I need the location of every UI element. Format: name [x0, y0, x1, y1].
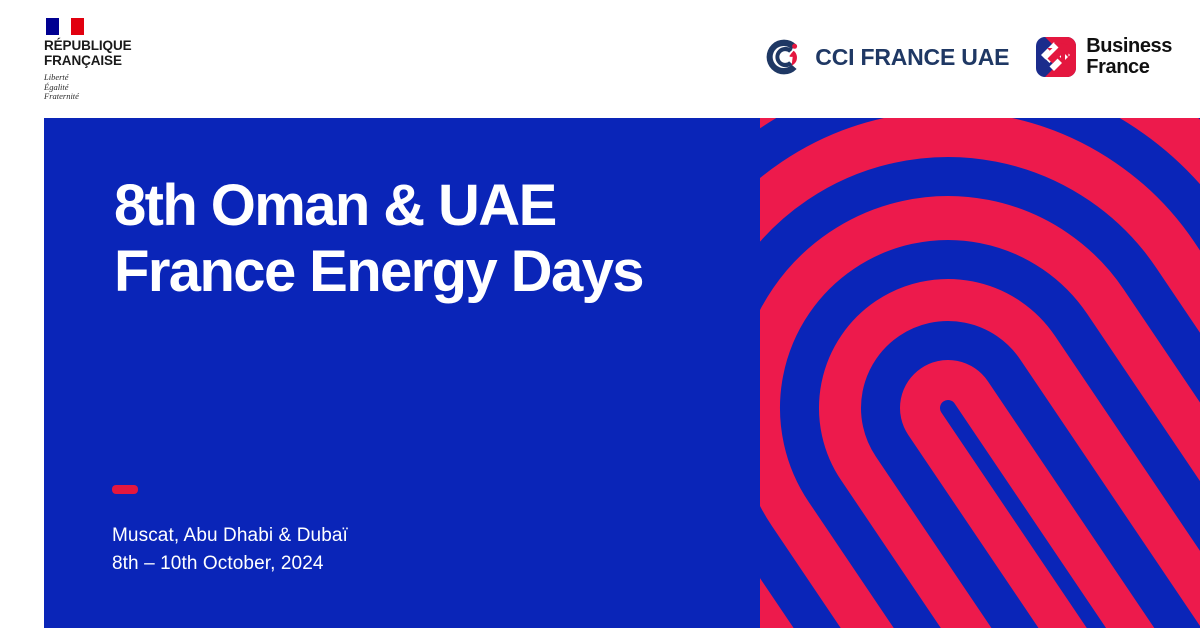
event-dates: 8th – 10th October, 2024: [112, 550, 348, 578]
cci-france-uae-logo[interactable]: CCI FRANCE UAE: [763, 36, 1009, 78]
republique-francaise-logo: RÉPUBLIQUE FRANÇAISE Liberté Égalité Fra…: [44, 18, 194, 102]
event-details: Muscat, Abu Dhabi & Dubaï 8th – 10th Oct…: [112, 522, 348, 578]
motto-fraternite: Fraternité: [44, 91, 79, 101]
business-france-label-line2: France: [1086, 56, 1149, 78]
cci-circle-icon: [763, 36, 805, 78]
republique-name-line2: FRANÇAISE: [44, 53, 122, 68]
event-location: Muscat, Abu Dhabi & Dubaï: [112, 522, 348, 550]
cci-label: CCI FRANCE UAE: [815, 44, 1009, 71]
blue-banner-panel: 8th Oman & UAE France Energy Days Muscat…: [44, 118, 1200, 628]
business-france-fingerprint-motif: [760, 118, 1200, 628]
business-france-arrow-icon: [1035, 36, 1077, 78]
red-dash-accent: [112, 485, 138, 494]
event-title-line2: France Energy Days: [114, 239, 643, 305]
french-flag-icon: [46, 18, 84, 35]
header-bar: RÉPUBLIQUE FRANÇAISE Liberté Égalité Fra…: [0, 0, 1200, 118]
partner-logos: CCI FRANCE UAE: [763, 28, 1172, 86]
republique-name: RÉPUBLIQUE FRANÇAISE: [44, 39, 194, 68]
republique-name-line1: RÉPUBLIQUE: [44, 38, 132, 53]
business-france-logo[interactable]: Business France: [1035, 36, 1172, 78]
event-banner: RÉPUBLIQUE FRANÇAISE Liberté Égalité Fra…: [0, 0, 1200, 628]
event-title: 8th Oman & UAE France Energy Days: [114, 173, 643, 305]
motto-egalite: Égalité: [44, 82, 69, 92]
event-title-line1: 8th Oman & UAE: [114, 173, 643, 239]
motto-liberte: Liberté: [44, 72, 69, 82]
business-france-label: Business France: [1086, 36, 1172, 78]
business-france-label-line1: Business: [1086, 35, 1172, 57]
republique-motto: Liberté Égalité Fraternité: [44, 73, 194, 102]
